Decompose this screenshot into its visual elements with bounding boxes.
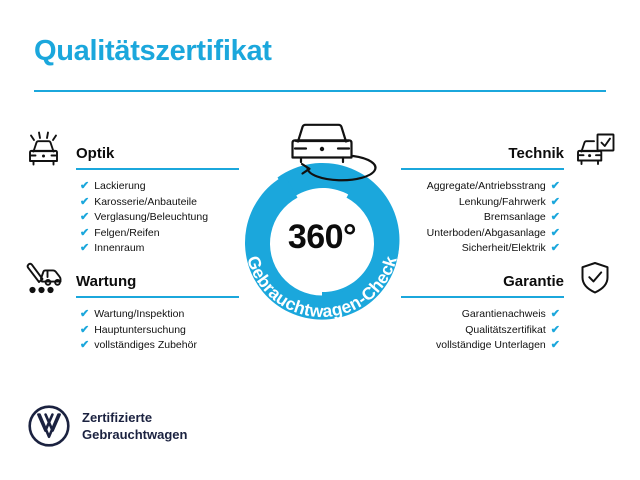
section-technik: Technik Aggregate/Antriebsstrang ✔ Lenku… [390,130,618,257]
list-item-label: Qualitätszertifikat [465,323,546,339]
section-header-technik: Technik [390,130,618,170]
car-shine-icon [22,130,68,170]
list-item-label: Wartung/Inspektion [94,307,184,323]
list-item: ✔ Hauptuntersuchung [80,323,250,339]
badge-360-gebrauchtwagen-check: Gebrauchtwagen-Check 360° [222,112,422,324]
section-title-optik: Optik [76,145,114,162]
footer-line-2: Gebrauchtwagen [82,426,187,443]
check-icon: ✔ [551,181,560,192]
footer-brand-lockup: Zertifizierte Gebrauchtwagen [28,405,187,447]
list-item-label: Garantienachweis [462,307,546,323]
section-title-wartung: Wartung [76,273,136,290]
section-divider-wartung [76,296,239,298]
list-item: ✔ vollständiges Zubehör [80,338,250,354]
car-checkbox-icon [572,130,618,170]
check-icon: ✔ [80,212,89,223]
check-icon: ✔ [80,340,89,351]
list-item-label: Hauptuntersuchung [94,323,186,339]
check-icon: ✔ [551,340,560,351]
check-icon: ✔ [551,228,560,239]
section-header-optik: Optik [22,130,250,170]
check-icon: ✔ [551,309,560,320]
list-item-label: Lenkung/Fahrwerk [459,195,546,211]
list-item-label: Verglasung/Beleuchtung [94,210,208,226]
section-header-wartung: Wartung [22,258,250,298]
title-divider [34,90,606,92]
list-item-label: Aggregate/Antriebsstrang [427,179,546,195]
section-header-garantie: Garantie [390,258,618,298]
list-item-label: Innenraum [94,241,144,257]
check-icon: ✔ [80,243,89,254]
check-icon: ✔ [80,197,89,208]
check-icon: ✔ [80,325,89,336]
list-item: Qualitätszertifikat ✔ [390,323,560,339]
certificate-page: Qualitätszertifikat [0,0,640,480]
section-divider-garantie [401,296,564,298]
shield-check-icon [572,258,618,298]
car-wrench-service-icon [22,258,68,298]
checklist-optik: ✔ Lackierung ✔ Karosserie/Anbauteile ✔ V… [22,179,250,257]
checklist-wartung: ✔ Wartung/Inspektion ✔ Hauptuntersuchung… [22,307,250,354]
volkswagen-logo [28,405,70,447]
list-item-label: vollständiges Zubehör [94,338,197,354]
section-divider-optik [76,168,239,170]
list-item-label: Lackierung [94,179,145,195]
list-item: vollständige Unterlagen ✔ [390,338,560,354]
badge-center-label: 360° [222,220,422,254]
list-item-label: Felgen/Reifen [94,226,159,242]
list-item-label: Sicherheit/Elektrik [462,241,546,257]
footer-text: Zertifizierte Gebrauchtwagen [82,409,187,443]
list-item-label: Bremsanlage [484,210,546,226]
checklist-technik: Aggregate/Antriebsstrang ✔ Lenkung/Fahrw… [390,179,618,257]
check-icon: ✔ [80,228,89,239]
section-divider-technik [401,168,564,170]
check-icon: ✔ [551,325,560,336]
title-block: Qualitätszertifikat [34,34,606,92]
check-icon: ✔ [80,309,89,320]
list-item-label: Unterboden/Abgasanlage [427,226,546,242]
check-icon: ✔ [551,243,560,254]
check-icon: ✔ [551,212,560,223]
page-title: Qualitätszertifikat [34,34,606,68]
section-garantie: Garantie Garantienachweis ✔ Qualitätszer… [390,258,618,354]
list-item-label: vollständige Unterlagen [436,338,546,354]
footer-line-1: Zertifizierte [82,409,187,426]
check-icon: ✔ [551,197,560,208]
list-item-label: Karosserie/Anbauteile [94,195,197,211]
section-wartung: Wartung ✔ Wartung/Inspektion ✔ Hauptunte… [22,258,250,354]
check-icon: ✔ [80,181,89,192]
checklist-garantie: Garantienachweis ✔ Qualitätszertifikat ✔… [390,307,618,354]
section-optik: Optik ✔ Lackierung ✔ Karosserie/Anbautei… [22,130,250,257]
